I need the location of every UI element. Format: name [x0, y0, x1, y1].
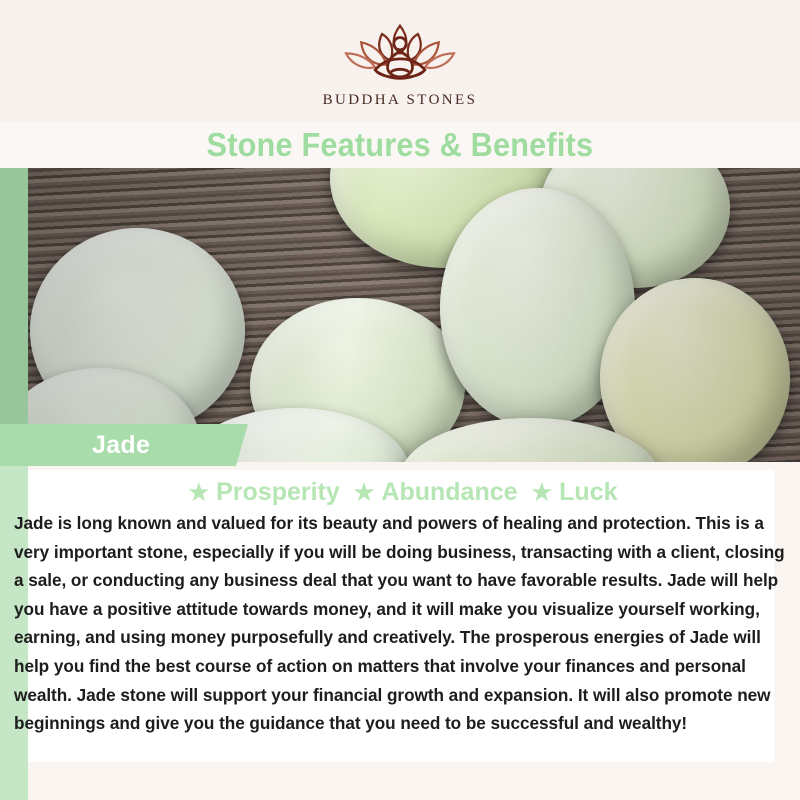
stone-shape: [600, 278, 790, 462]
stone-name-label: Jade: [92, 431, 150, 460]
stone-description: Jade is long known and valued for its be…: [14, 509, 786, 738]
star-icon: ★: [532, 479, 553, 505]
stone-shape: [400, 418, 660, 462]
lotus-meditation-icon: [330, 16, 470, 88]
stone-name-band: Jade: [0, 424, 248, 466]
keyword-prosperity: Prosperity: [216, 478, 340, 506]
keyword-luck: Luck: [559, 478, 617, 506]
keyword-row: ★Prosperity★Abundance★Luck: [0, 478, 800, 507]
page-title: Stone Features & Benefits: [207, 126, 594, 164]
keyword-abundance: Abundance: [381, 478, 517, 506]
stone-shape: [30, 228, 245, 433]
brand-name: BUDDHA STONES: [323, 92, 478, 109]
stone-shape: [440, 188, 635, 428]
star-icon: ★: [188, 479, 209, 505]
frame-left-photo-accent: [0, 168, 28, 430]
stone-shape: [250, 298, 465, 462]
star-icon: ★: [354, 479, 375, 505]
stone-shape: [330, 168, 560, 268]
brand-header: BUDDHA STONES: [0, 0, 800, 122]
stone-info-poster: BUDDHA STONES Stone Features & Benefits …: [0, 0, 800, 800]
stone-shape: [540, 168, 730, 288]
stone-photo: [0, 168, 800, 462]
title-banner: Stone Features & Benefits: [0, 122, 800, 168]
